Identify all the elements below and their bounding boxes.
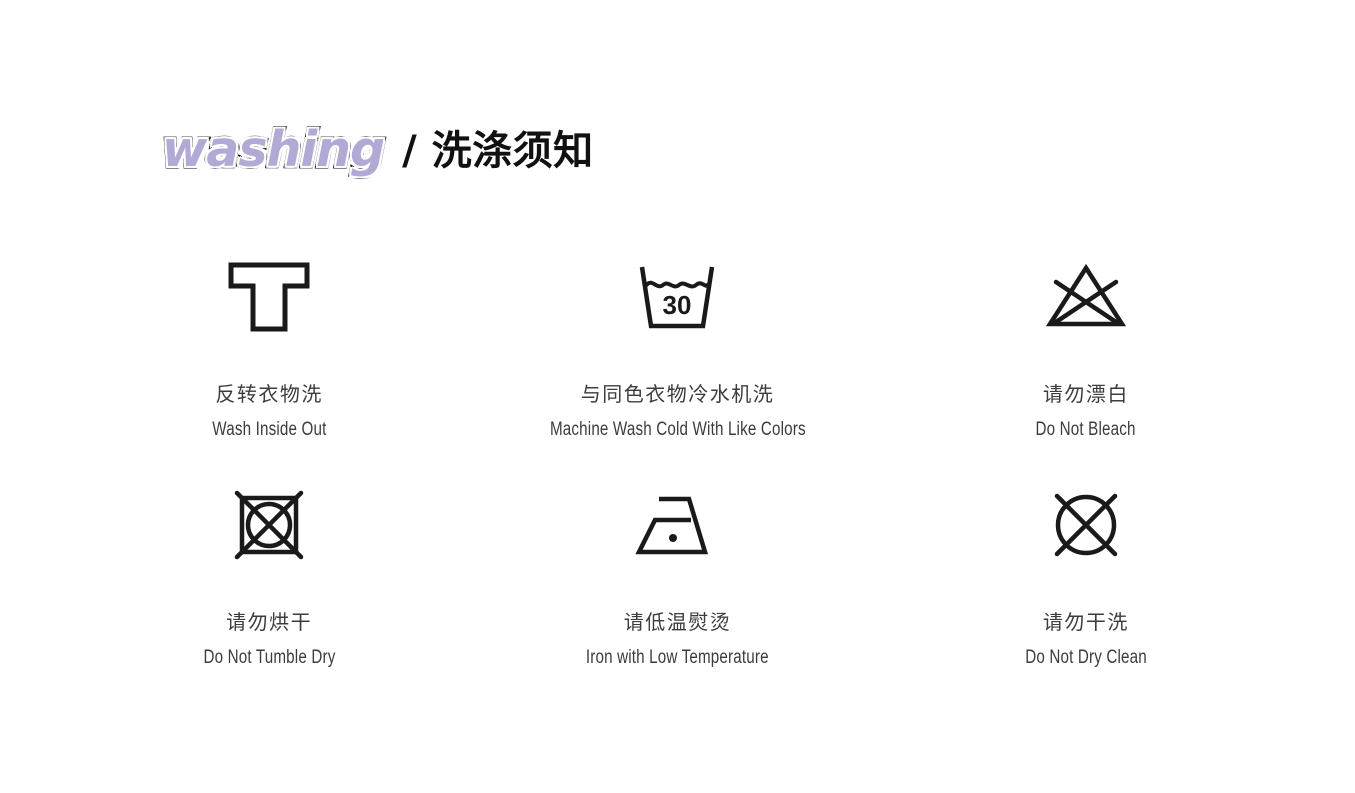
page-title: washing / 洗涤须知 bbox=[162, 118, 594, 176]
care-item-label-cn: 请低温熨烫 bbox=[624, 612, 732, 632]
care-item-machine-wash-cold: 30 与同色衣物冷水机洗 Machine Wash Cold With Like… bbox=[473, 258, 881, 486]
svg-text:30: 30 bbox=[663, 290, 692, 320]
care-item-do-not-bleach: 请勿漂白 Do Not Bleach bbox=[882, 258, 1290, 486]
wash-tub-30-icon: 30 bbox=[637, 258, 717, 336]
care-item-label-en: Iron with Low Temperature bbox=[586, 648, 769, 667]
care-symbol-grid: 反转衣物洗 Wash Inside Out 30 与同色衣物冷水机洗 Machi… bbox=[65, 258, 1290, 714]
page-title-english: washing bbox=[162, 121, 384, 178]
care-item-label-en: Do Not Bleach bbox=[1036, 420, 1136, 439]
iron-low-temperature-icon bbox=[633, 486, 721, 564]
care-item-label-cn: 与同色衣物冷水机洗 bbox=[581, 384, 775, 404]
washing-care-page: washing / 洗涤须知 反转衣物洗 Wash Inside Out 30 bbox=[0, 0, 1355, 793]
do-not-dry-clean-icon bbox=[1049, 486, 1123, 564]
care-item-label-en: Machine Wash Cold With Like Colors bbox=[550, 420, 806, 439]
care-item-label-cn: 请勿烘干 bbox=[226, 612, 312, 632]
care-item-label-cn: 反转衣物洗 bbox=[215, 384, 323, 404]
page-title-chinese: / 洗涤须知 bbox=[402, 118, 594, 176]
care-item-label-en: Do Not Dry Clean bbox=[1025, 648, 1147, 667]
care-item-iron-low-temperature: 请低温熨烫 Iron with Low Temperature bbox=[473, 486, 881, 714]
do-not-bleach-triangle-icon bbox=[1042, 258, 1130, 336]
care-item-label-en: Do Not Tumble Dry bbox=[203, 648, 335, 667]
care-item-label-cn: 请勿漂白 bbox=[1043, 384, 1129, 404]
care-item-label-en: Wash Inside Out bbox=[212, 420, 326, 439]
care-item-do-not-tumble-dry: 请勿烘干 Do Not Tumble Dry bbox=[65, 486, 473, 714]
care-item-do-not-dry-clean: 请勿干洗 Do Not Dry Clean bbox=[882, 486, 1290, 714]
care-item-label-cn: 请勿干洗 bbox=[1043, 612, 1129, 632]
tshirt-icon bbox=[227, 258, 311, 336]
do-not-tumble-dry-icon bbox=[232, 486, 306, 564]
care-item-wash-inside-out: 反转衣物洗 Wash Inside Out bbox=[65, 258, 473, 486]
